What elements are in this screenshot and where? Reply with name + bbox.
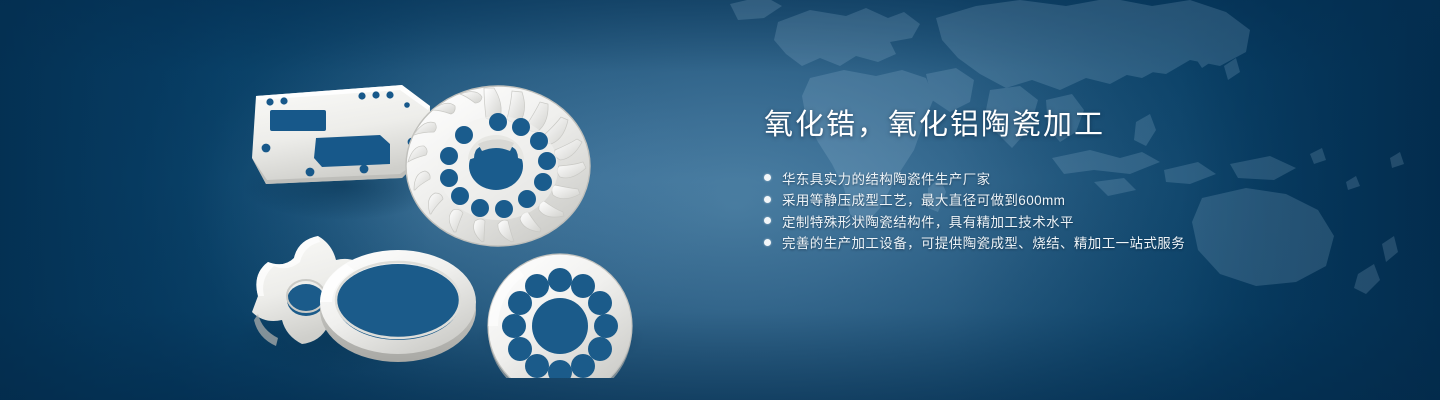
ceramic-impeller-part (406, 86, 590, 246)
list-item-label: 华东具实力的结构陶瓷件生产厂家 (782, 168, 991, 188)
list-item: 完善的生产加工设备，可提供陶瓷成型、烧结、精加工一站式服务 (764, 231, 1384, 253)
bullet-dot-icon (764, 239, 771, 246)
banner-text-panel: 氧化锆，氧化铝陶瓷加工 华东具实力的结构陶瓷件生产厂家 采用等静压成型工艺，最大… (764, 108, 1384, 253)
ceramic-plate-part (252, 85, 430, 184)
bullet-dot-icon (764, 196, 771, 203)
list-item-label: 完善的生产加工设备，可提供陶瓷成型、烧结、精加工一站式服务 (782, 232, 1185, 252)
promo-banner: 氧化锆，氧化铝陶瓷加工 华东具实力的结构陶瓷件生产厂家 采用等静压成型工艺，最大… (0, 0, 1440, 400)
list-item: 华东具实力的结构陶瓷件生产厂家 (764, 167, 1384, 189)
list-item: 定制特殊形状陶瓷结构件，具有精加工技术水平 (764, 210, 1384, 232)
bullet-dot-icon (764, 217, 771, 224)
bullet-dot-icon (764, 174, 771, 181)
list-item-label: 采用等静压成型工艺，最大直径可做到600mm (782, 189, 1065, 209)
list-item-label: 定制特殊形状陶瓷结构件，具有精加工技术水平 (782, 211, 1074, 231)
feature-list: 华东具实力的结构陶瓷件生产厂家 采用等静压成型工艺，最大直径可做到600mm 定… (764, 167, 1384, 253)
ceramic-ring-part (320, 250, 476, 362)
product-photo-collage (230, 38, 710, 378)
ceramic-valve-plate-part (488, 254, 632, 378)
page-title: 氧化锆，氧化铝陶瓷加工 (764, 108, 1384, 143)
list-item: 采用等静压成型工艺，最大直径可做到600mm (764, 188, 1384, 210)
